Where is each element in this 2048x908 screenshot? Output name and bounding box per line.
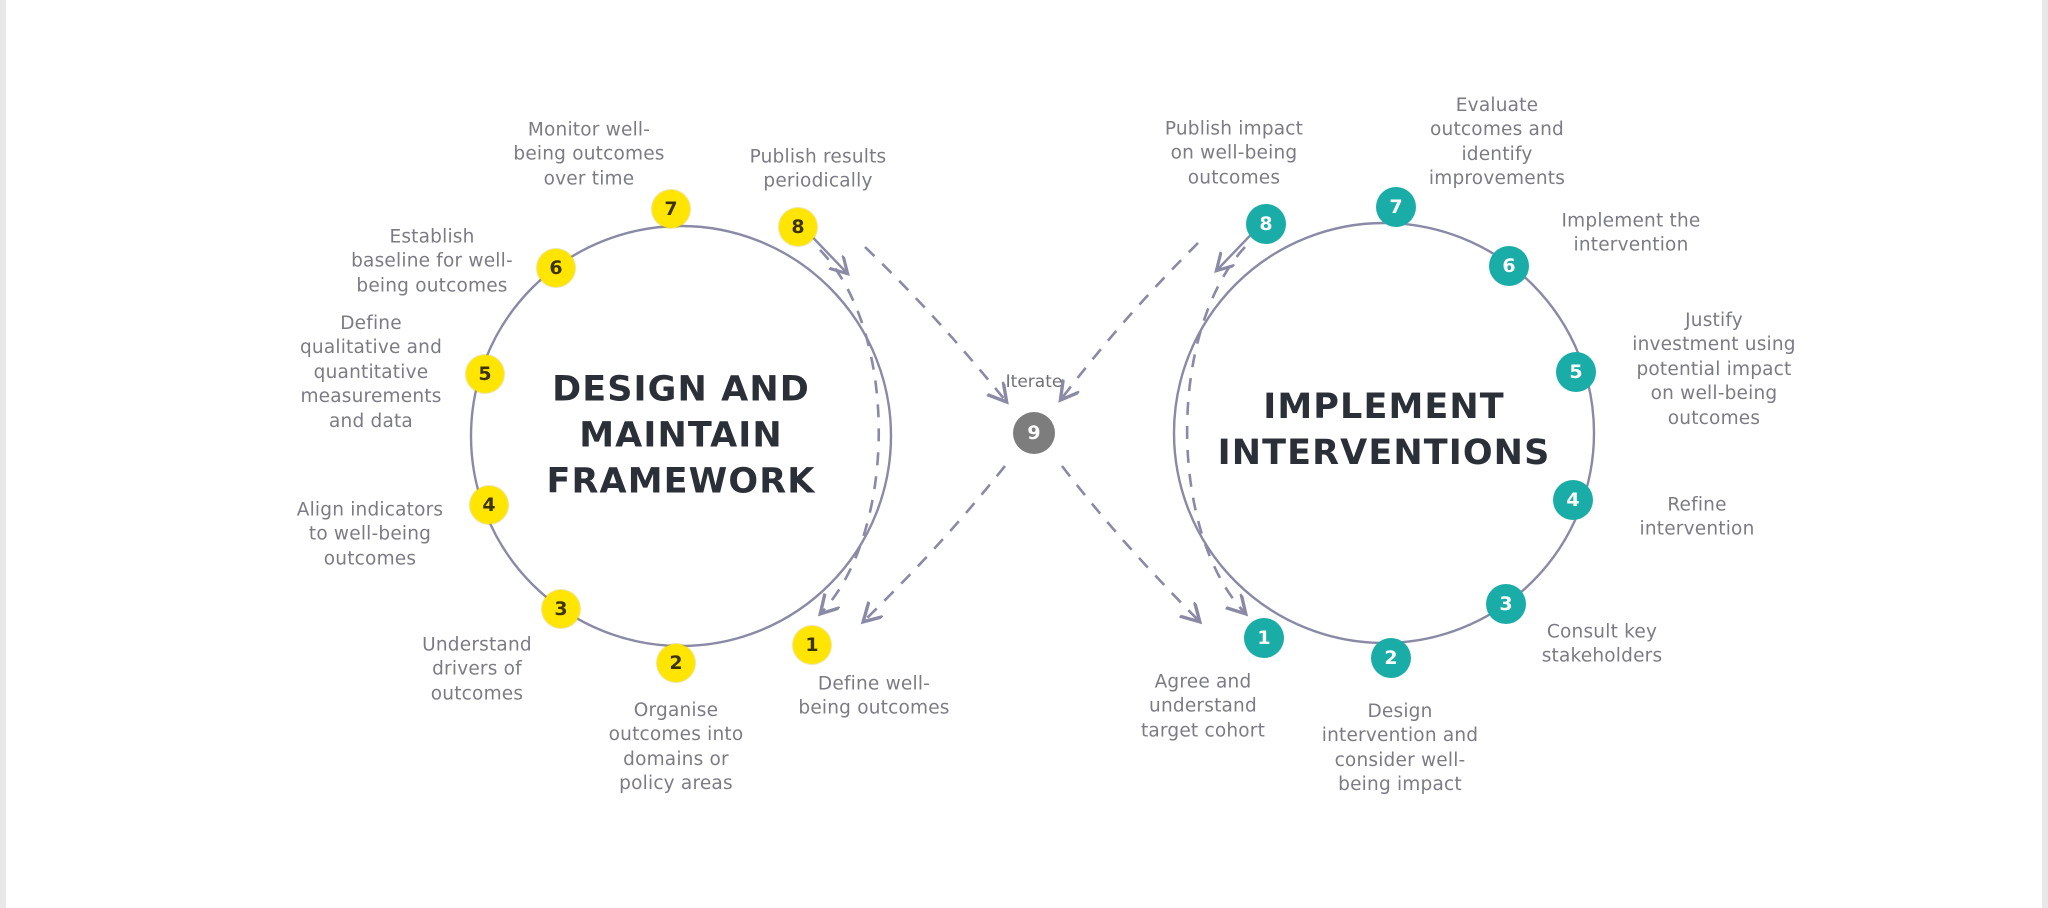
left-step-node-3[interactable]: 3	[542, 590, 580, 628]
diagram-canvas: DESIGN AND MAINTAIN FRAMEWORK 1 2 3 4 5 …	[0, 0, 2048, 908]
left-step-label-2: Organise outcomes into domains or policy…	[571, 699, 781, 797]
right-step-label-3: Consult key stakeholders	[1502, 621, 1702, 670]
connector-lines	[0, 0, 2048, 908]
left-step-label-3: Understand drivers of outcomes	[382, 633, 572, 706]
hub-arrow-from-left-top	[865, 247, 1005, 400]
right-step-label-1: Agree and understand target cohort	[1103, 670, 1303, 743]
right-step-node-3[interactable]: 3	[1486, 584, 1526, 624]
left-loop-center-title: DESIGN AND MAINTAIN FRAMEWORK	[521, 367, 841, 506]
hub-label: Iterate	[1006, 372, 1063, 392]
left-step-node-1[interactable]: 1	[793, 626, 831, 664]
right-loop-center-title: IMPLEMENT INTERVENTIONS	[1194, 384, 1574, 476]
hub-arrow-to-left-bottom	[865, 466, 1005, 620]
right-step-label-5: Justify investment using potential impac…	[1602, 309, 1827, 431]
left-step-label-4: Align indicators to well-being outcomes	[260, 498, 480, 571]
left-step-label-8: Publish results periodically	[713, 146, 923, 195]
left-step-node-7[interactable]: 7	[652, 190, 690, 228]
right-step-node-8[interactable]: 8	[1246, 204, 1286, 244]
hub-node-9[interactable]: 9	[1013, 412, 1055, 454]
right-step-node-1[interactable]: 1	[1244, 618, 1284, 658]
left-step-label-1: Define well- being outcomes	[774, 673, 974, 722]
right-step-label-8: Publish impact on well-being outcomes	[1134, 117, 1334, 190]
left-step-node-2[interactable]: 2	[657, 644, 695, 682]
right-step-node-5[interactable]: 5	[1556, 352, 1596, 392]
right-step-node-7[interactable]: 7	[1376, 187, 1416, 227]
left-step-label-7: Monitor well- being outcomes over time	[477, 118, 702, 191]
left-step-label-6: Establish baseline for well- being outco…	[320, 225, 545, 298]
hub-arrow-from-right-top	[1062, 243, 1198, 398]
left-step-node-8[interactable]: 8	[779, 208, 817, 246]
right-step-label-7: Evaluate outcomes and identify improveme…	[1402, 94, 1592, 192]
left-step-label-5: Define qualitative and quantitative meas…	[266, 312, 476, 434]
right-step-node-2[interactable]: 2	[1371, 638, 1411, 678]
right-step-node-4[interactable]: 4	[1553, 480, 1593, 520]
right-step-label-6: Implement the intervention	[1531, 210, 1731, 259]
right-step-label-4: Refine intervention	[1602, 494, 1792, 543]
right-step-node-6[interactable]: 6	[1489, 246, 1529, 286]
right-step-label-2: Design intervention and consider well- b…	[1288, 700, 1513, 798]
hub-arrow-to-right-bottom	[1062, 466, 1198, 620]
